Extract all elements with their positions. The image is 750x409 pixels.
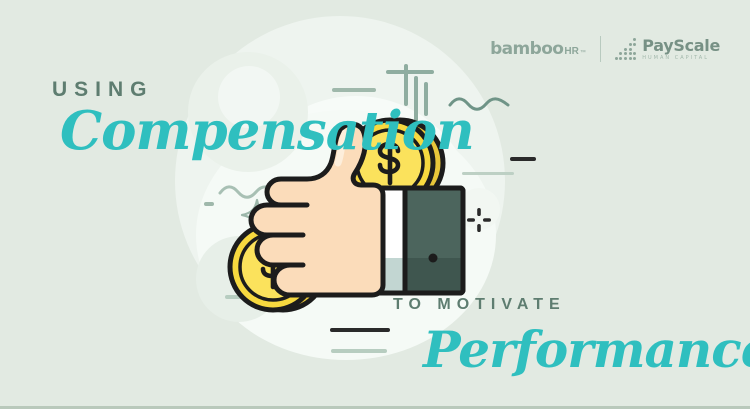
logo-lockup: bamboo HR ™ PayScale HUMAN CAPITAL (490, 36, 720, 62)
payscale-name: PayScale (642, 38, 720, 54)
payscale-logo: PayScale HUMAN CAPITAL (615, 38, 720, 61)
banner-canvas: USING Compensation TO MOTIVATE Performan… (0, 0, 750, 409)
bamboohr-wordmark: bamboo (490, 39, 563, 59)
payscale-tagline: HUMAN CAPITAL (642, 56, 720, 61)
kicker-to-motivate: TO MOTIVATE (393, 296, 566, 314)
logo-divider (600, 36, 601, 62)
bamboohr-trademark-icon: ™ (580, 50, 586, 56)
payscale-dot-grid-icon (615, 38, 636, 59)
kicker-using: USING (52, 78, 154, 102)
dash-mark (332, 88, 376, 92)
headline-performance: Performance (423, 325, 750, 375)
dash-mark (386, 70, 434, 74)
dash-mark (330, 328, 390, 332)
bamboohr-logo: bamboo HR ™ (490, 39, 586, 59)
dash-mark (331, 349, 387, 353)
dash-mark (204, 202, 214, 206)
dash-mark (510, 157, 536, 161)
bamboohr-suffix: HR (564, 46, 578, 57)
headline-compensation: Compensation (60, 105, 474, 158)
